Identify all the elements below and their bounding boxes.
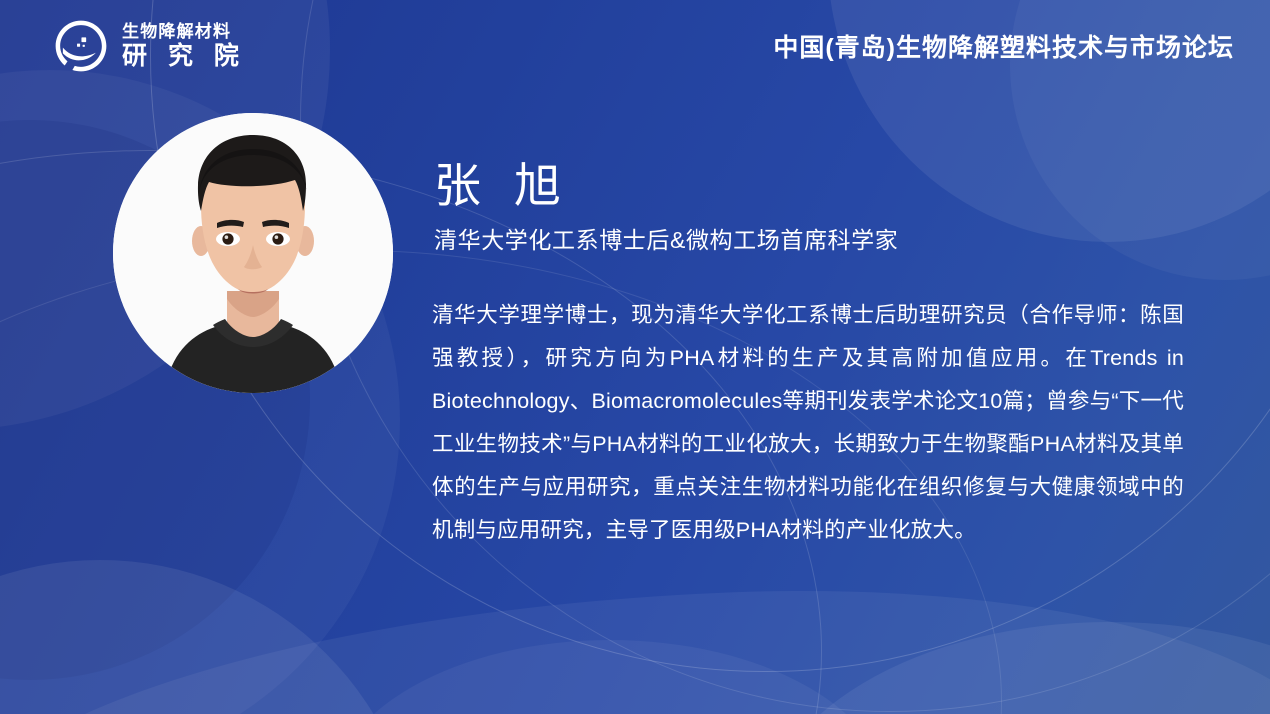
speaker-avatar (113, 113, 393, 393)
decor-blob-bottom-right (760, 622, 1270, 714)
logo-wordmark: 生物降解材料 研 究 院 (122, 21, 246, 71)
logo-line-2: 研 究 院 (122, 42, 246, 71)
logo-line-1: 生物降解材料 (122, 21, 246, 42)
speaker-info: 张 旭 清华大学化工系博士后&微构工场首席科学家 清华大学理学博士，现为清华大学… (432, 160, 1192, 552)
speaker-bio: 清华大学理学博士，现为清华大学化工系博士后助理研究员（合作导师：陈国强教授），研… (432, 294, 1184, 552)
speaker-name: 张 旭 (434, 160, 1192, 212)
decor-blob-bottom-left (0, 560, 420, 714)
decor-wave-bottom (0, 569, 1270, 714)
speaker-portrait-illustration (113, 113, 393, 393)
speaker-slide: 生物降解材料 研 究 院 中国(青岛)生物降解塑料技术与市场论坛 (0, 0, 1270, 714)
forum-title: 中国(青岛)生物降解塑料技术与市场论坛 (773, 28, 1234, 64)
decor-blob-bottom-middle (330, 640, 890, 714)
institute-circular-q-logo-icon (52, 17, 110, 75)
institute-logo: 生物降解材料 研 究 院 (52, 17, 246, 75)
speaker-role: 清华大学化工系博士后&微构工场首席科学家 (434, 226, 1192, 256)
slide-header: 生物降解材料 研 究 院 中国(青岛)生物降解塑料技术与市场论坛 (0, 0, 1270, 92)
